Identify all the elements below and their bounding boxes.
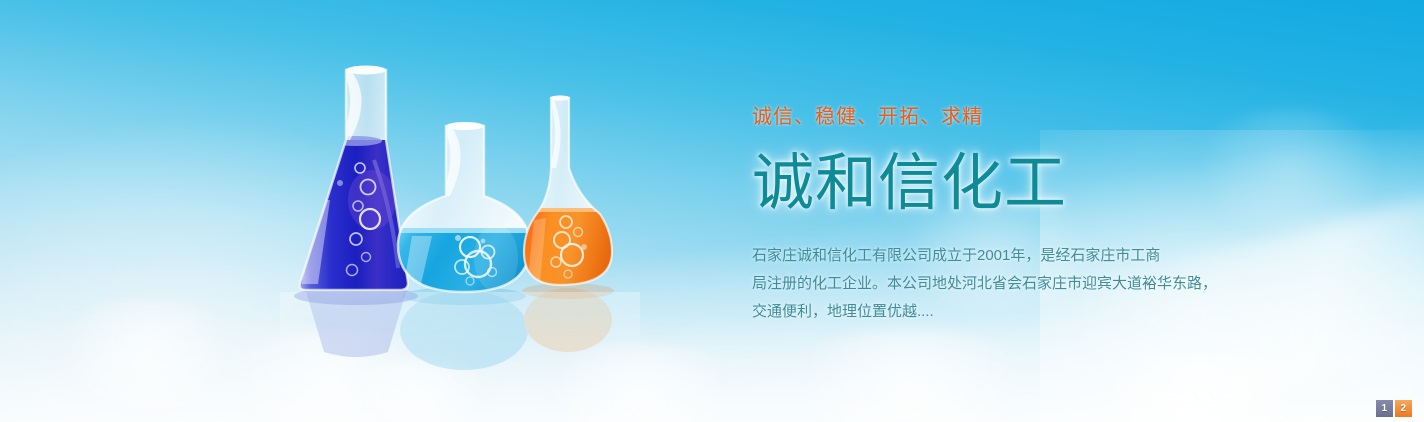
cloud-puff <box>520 345 760 422</box>
chemistry-flasks-illustration <box>0 0 700 422</box>
cloud-puff <box>760 330 1060 422</box>
pear-shaped-flask <box>520 95 616 290</box>
description-line: 局注册的化工企业。本公司地处河北省会石家庄市迎宾大道裕华东路， <box>752 270 1222 298</box>
cloud-puff <box>330 358 510 422</box>
banner-tagline: 诚信、稳健、开拓、求精 <box>752 104 1312 130</box>
carousel-pagination: 1 2 <box>1376 400 1412 417</box>
cloud-puff <box>200 330 460 422</box>
banner-headline: 诚和信化工 <box>752 146 1312 222</box>
banner-description: 石家庄诚和信化工有限公司成立于2001年，是经石家庄市工商 局注册的化工企业。本… <box>752 242 1222 326</box>
description-line: 石家庄诚和信化工有限公司成立于2001年，是经石家庄市工商 <box>752 242 1222 270</box>
erlenmeyer-flask <box>296 66 412 296</box>
pagination-button-1[interactable]: 1 <box>1376 400 1393 417</box>
banner-copy: 诚信、稳健、开拓、求精 诚和信化工 石家庄诚和信化工有限公司成立于2001年，是… <box>752 104 1312 326</box>
sky-glow-left <box>0 120 500 422</box>
pagination-button-2[interactable]: 2 <box>1395 400 1412 417</box>
round-bottom-flask <box>394 122 536 302</box>
cloud-puff <box>1060 350 1340 422</box>
description-line: 交通便利，地理位置优越.... <box>752 298 1222 326</box>
cloud-puff <box>40 300 250 410</box>
hero-banner: 诚信、稳健、开拓、求精 诚和信化工 石家庄诚和信化工有限公司成立于2001年，是… <box>0 0 1424 422</box>
